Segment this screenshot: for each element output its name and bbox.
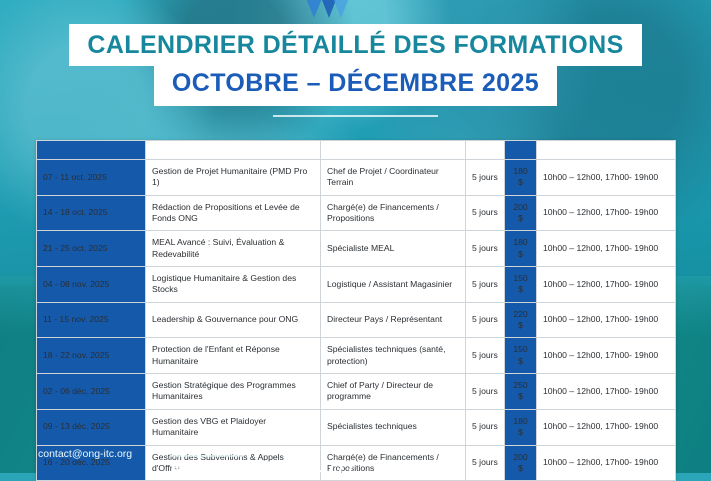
footer: contact@ong-itc.org ☎ +243 (0) 821 831 7… xyxy=(0,443,711,473)
cell-audience: Directeur Pays / Représentant xyxy=(321,302,466,338)
cell-schedule: 10h00 – 12h00, 17h00- 19h00 xyxy=(537,267,676,303)
cell-audience: Chargé(e) de Financements / Propositions xyxy=(321,195,466,231)
header-price xyxy=(505,141,537,160)
training-schedule-table: 07 - 11 oct. 2025Gestion de Projet Human… xyxy=(36,140,676,481)
cell-course: Rédaction de Propositions et Levée de Fo… xyxy=(146,195,321,231)
cell-dates: 14 - 18 oct. 2025 xyxy=(37,195,146,231)
cell-price: 180 $ xyxy=(505,409,537,445)
cell-schedule: 10h00 – 12h00, 17h00- 19h00 xyxy=(537,374,676,410)
cell-duration: 5 jours xyxy=(466,160,505,196)
cell-course: Leadership & Gouvernance pour ONG xyxy=(146,302,321,338)
cell-duration: 5 jours xyxy=(466,267,505,303)
cell-price: 200 $ xyxy=(505,195,537,231)
header-audience xyxy=(321,141,466,160)
cell-duration: 5 jours xyxy=(466,374,505,410)
cell-schedule: 10h00 – 12h00, 17h00- 19h00 xyxy=(537,302,676,338)
cell-dates: 02 - 06 déc. 2025 xyxy=(37,374,146,410)
header-dates xyxy=(37,141,146,160)
table-row: 04 - 08 nov. 2025Logistique Humanitaire … xyxy=(37,267,676,303)
title-line-1: CALENDRIER DÉTAILLÉ DES FORMATIONS xyxy=(69,24,641,66)
contact-email[interactable]: contact@ong-itc.org xyxy=(38,448,132,460)
table-row: 09 - 13 déc. 2025Gestion des VBG et Plai… xyxy=(37,409,676,445)
cell-duration: 5 jours xyxy=(466,338,505,374)
cell-dates: 04 - 08 nov. 2025 xyxy=(37,267,146,303)
organization-logo-icon xyxy=(305,0,345,18)
cell-dates: 21 - 25 oct. 2025 xyxy=(37,231,146,267)
cell-schedule: 10h00 – 12h00, 17h00- 19h00 xyxy=(537,160,676,196)
cell-price: 180 $ xyxy=(505,231,537,267)
cell-course: MEAL Avancé : Suivi, Évaluation & Redeva… xyxy=(146,231,321,267)
contact-phone[interactable]: +243 (0) 821 831 777 xyxy=(187,457,356,477)
cell-duration: 5 jours xyxy=(466,195,505,231)
table-row: 14 - 18 oct. 2025Rédaction de Propositio… xyxy=(37,195,676,231)
cell-schedule: 10h00 – 12h00, 17h00- 19h00 xyxy=(537,409,676,445)
cell-course: Logistique Humanitaire & Gestion des Sto… xyxy=(146,267,321,303)
cell-price: 150 $ xyxy=(505,338,537,374)
cell-audience: Spécialistes techniques xyxy=(321,409,466,445)
cell-course: Gestion des VBG et Plaidoyer Humanitaire xyxy=(146,409,321,445)
cell-schedule: 10h00 – 12h00, 17h00- 19h00 xyxy=(537,195,676,231)
table-row: 21 - 25 oct. 2025MEAL Avancé : Suivi, Év… xyxy=(37,231,676,267)
cell-dates: 11 - 15 nov. 2025 xyxy=(37,302,146,338)
cell-price: 150 $ xyxy=(505,267,537,303)
cell-price: 180 $ xyxy=(505,160,537,196)
header-schedule xyxy=(537,141,676,160)
cell-schedule: 10h00 – 12h00, 17h00- 19h00 xyxy=(537,338,676,374)
page-title: CALENDRIER DÉTAILLÉ DES FORMATIONS OCTOB… xyxy=(0,24,711,117)
header-course xyxy=(146,141,321,160)
table-header xyxy=(37,141,676,160)
cell-price: 250 $ xyxy=(505,374,537,410)
title-line-2: OCTOBRE – DÉCEMBRE 2025 xyxy=(154,65,557,106)
cell-price: 220 $ xyxy=(505,302,537,338)
phone-icon: ☎ xyxy=(169,459,181,474)
cell-duration: 5 jours xyxy=(466,231,505,267)
cell-audience: Chef de Projet / Coordinateur Terrain xyxy=(321,160,466,196)
cell-duration: 5 jours xyxy=(466,302,505,338)
header-duration xyxy=(466,141,505,160)
cell-audience: Spécialiste MEAL xyxy=(321,231,466,267)
table-header-row xyxy=(37,141,676,160)
table-row: 07 - 11 oct. 2025Gestion de Projet Human… xyxy=(37,160,676,196)
cell-dates: 09 - 13 déc. 2025 xyxy=(37,409,146,445)
title-divider xyxy=(273,115,438,117)
table-row: 11 - 15 nov. 2025Leadership & Gouvernanc… xyxy=(37,302,676,338)
cell-dates: 07 - 11 oct. 2025 xyxy=(37,160,146,196)
table-body: 07 - 11 oct. 2025Gestion de Projet Human… xyxy=(37,160,676,481)
cell-schedule: 10h00 – 12h00, 17h00- 19h00 xyxy=(537,231,676,267)
cell-course: Protection de l'Enfant et Réponse Humani… xyxy=(146,338,321,374)
cell-audience: Chief of Party / Directeur de programme xyxy=(321,374,466,410)
cell-audience: Spécialistes techniques (santé, protecti… xyxy=(321,338,466,374)
cell-course: Gestion Stratégique des Programmes Human… xyxy=(146,374,321,410)
cell-duration: 5 jours xyxy=(466,409,505,445)
cell-audience: Logistique / Assistant Magasinier xyxy=(321,267,466,303)
cell-course: Gestion de Projet Humanitaire (PMD Pro 1… xyxy=(146,160,321,196)
table-row: 02 - 06 déc. 2025Gestion Stratégique des… xyxy=(37,374,676,410)
cell-dates: 18 - 22 nov. 2025 xyxy=(37,338,146,374)
table-row: 18 - 22 nov. 2025Protection de l'Enfant … xyxy=(37,338,676,374)
